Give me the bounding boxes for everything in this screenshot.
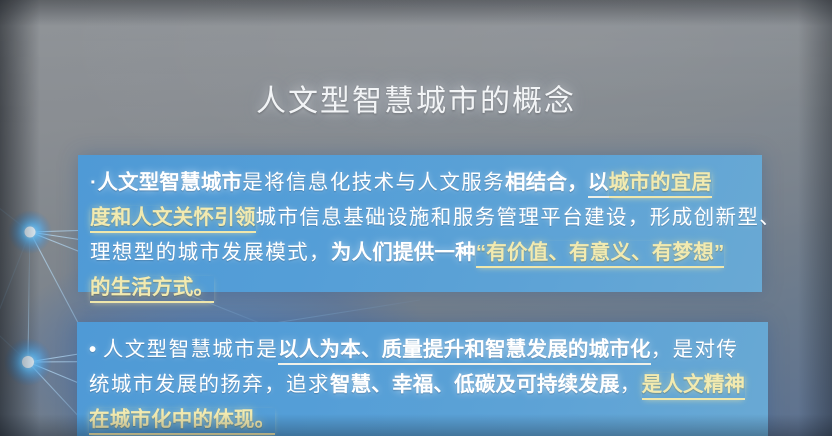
text-run: 形成创新型、 xyxy=(650,206,781,229)
text-run-emphasis: 人文型智慧城市 xyxy=(97,171,242,194)
text-line: 的生活方式。 xyxy=(90,270,748,305)
text-run-highlight: 城市的宜居 xyxy=(609,171,713,198)
text-run-emphasis: 相结合， xyxy=(505,171,588,194)
text-line: • 人文型智慧城市是以人为本、质量提升和智慧发展的城市化，是对传 xyxy=(89,332,754,367)
text-run-highlight: 的生活方式。 xyxy=(90,276,214,303)
text-run-highlight: 是人文精神 xyxy=(642,373,746,400)
text-run: 城市信息基础设施和服务管理平台建设， xyxy=(256,206,650,229)
text-run-highlight: 在城市化中的体现。 xyxy=(89,408,275,435)
text-line: 理想型的城市发展模式，为人们提供一种“有价值、有意义、有梦想” xyxy=(90,235,748,270)
page-title: 人文型智慧城市的概念 xyxy=(0,76,832,120)
text-run: 统城市发展的扬弃，追求 xyxy=(89,373,330,396)
text-run: ，是对传 xyxy=(651,338,739,361)
bullet-marker: • xyxy=(89,338,103,361)
text-line: ·人文型智慧城市是将信息化技术与人文服务相结合，以城市的宜居 xyxy=(90,165,748,200)
text-run-underlined: 以 xyxy=(588,171,609,198)
presentation-slide: 人文型智慧城市的概念 ·人文型智慧城市是将信息化技术与人文服务相结合，以城市的宜… xyxy=(0,0,832,436)
text-run-highlight: 度和人文关怀引领 xyxy=(90,206,256,233)
text-run-emphasis: 智慧、幸福、低碳及可持续发展 xyxy=(330,373,620,396)
text-run: 理想型的城市发展模式， xyxy=(90,241,331,264)
text-run: 人文型智慧城市 xyxy=(103,338,256,361)
text-run-highlight: “有价值、有意义、有梦想” xyxy=(476,241,725,268)
text-line: 统城市发展的扬弃，追求智慧、幸福、低碳及可持续发展，是人文精神 xyxy=(89,367,754,402)
text-line: 在城市化中的体现。 xyxy=(89,402,754,436)
text-run: 是 xyxy=(256,338,278,361)
text-run-emphasis: 为人们提供一种 xyxy=(331,241,476,264)
text-line: 度和人文关怀引领城市信息基础设施和服务管理平台建设，形成创新型、 xyxy=(90,200,748,235)
text-run-underlined: 以人为本、质量提升和智慧发展的城市化 xyxy=(278,338,651,365)
text-run: 是将信息化技术与人文服务 xyxy=(242,171,505,194)
definition-block-2: • 人文型智慧城市是以人为本、质量提升和智慧发展的城市化，是对传 统城市发展的扬… xyxy=(77,322,768,436)
text-run: ， xyxy=(620,373,642,396)
definition-block-1: ·人文型智慧城市是将信息化技术与人文服务相结合，以城市的宜居 度和人文关怀引领城… xyxy=(78,155,762,292)
